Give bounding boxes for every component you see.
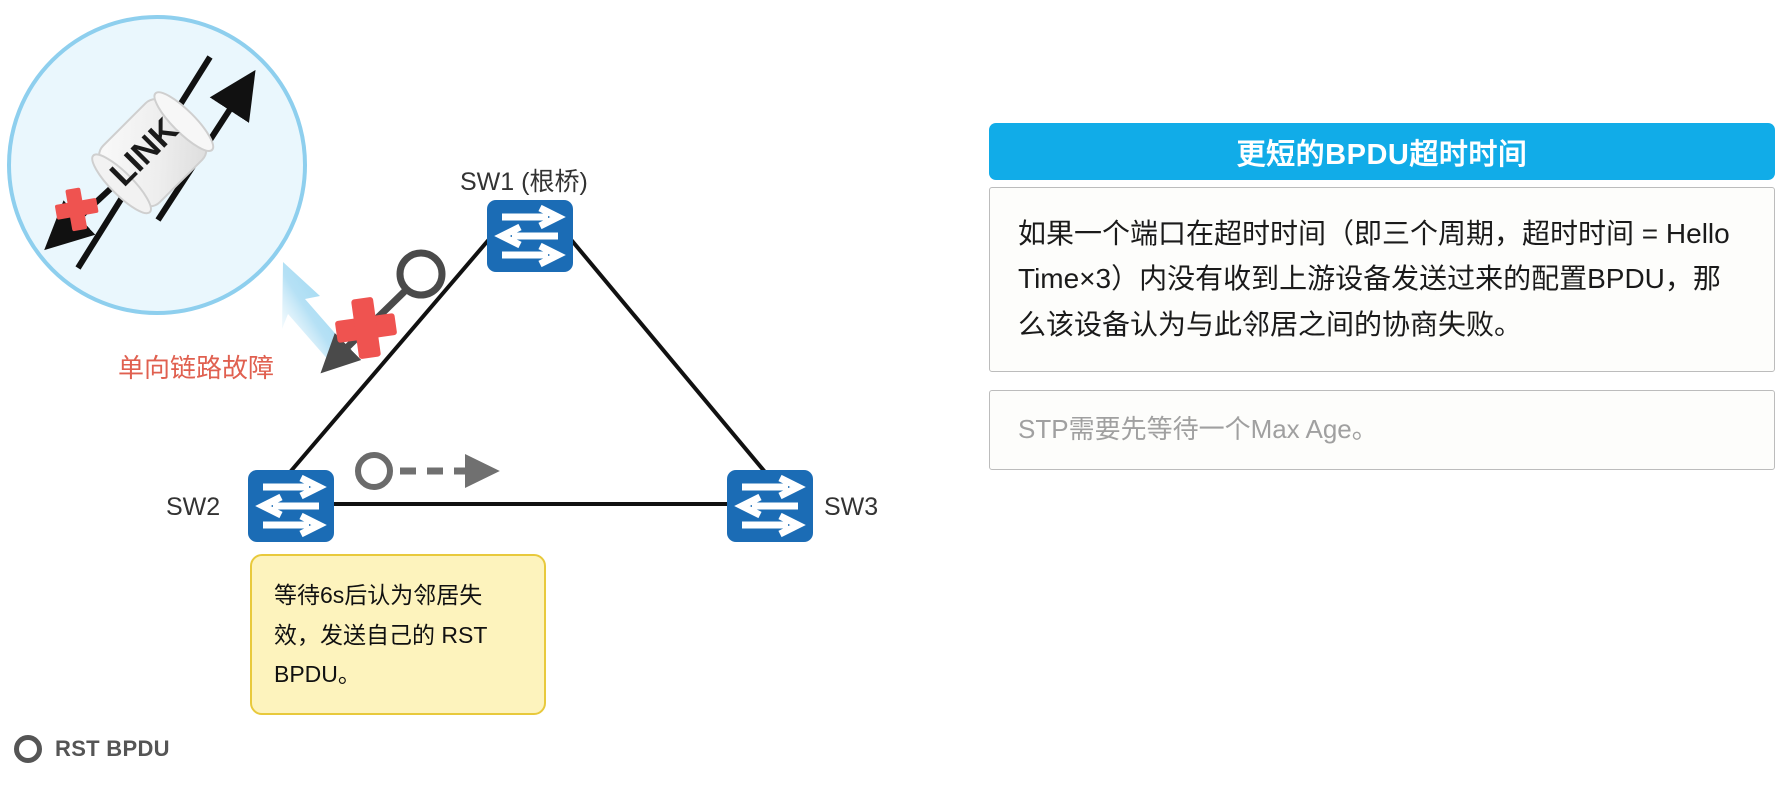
callout-text: 等待6s后认为邻居失效，发送自己的 RST BPDU。	[274, 582, 487, 687]
node-label-sw1: SW1 (根桥)	[460, 162, 588, 198]
panel-body-text: 如果一个端口在超时时间（即三个周期，超时时间 = Hello Time×3）内没…	[1018, 211, 1746, 347]
switch-icon-sw1[interactable]	[487, 200, 573, 272]
panel-header: 更短的BPDU超时时间	[989, 123, 1775, 180]
legend-label: RST BPDU	[55, 736, 170, 762]
panel-note-text: STP需要先等待一个Max Age。	[1018, 413, 1746, 447]
network-diagram-pane: LINK	[0, 0, 950, 792]
node-label-sw3: SW3	[824, 493, 878, 522]
panel-title: 更短的BPDU超时时间	[1237, 131, 1528, 173]
node-label-sw2: SW2	[166, 493, 220, 522]
switch-icon-sw3[interactable]	[727, 470, 813, 542]
link-sw1-sw3	[563, 230, 770, 478]
callout-bubble: 等待6s后认为邻居失效，发送自己的 RST BPDU。	[250, 554, 546, 715]
link-sw1-sw2	[285, 230, 497, 478]
magnifier-bubble: LINK	[9, 17, 305, 313]
rst-bpdu-ring-icon	[14, 735, 42, 763]
fault-label: 单向链路故障	[118, 348, 274, 385]
rst-bpdu-ring-icon-blocked	[400, 253, 442, 295]
outgoing-rst-bpdu-flow	[358, 455, 490, 487]
blocked-bpdu-flow	[328, 253, 442, 366]
info-panel: 更短的BPDU超时时间 如果一个端口在超时时间（即三个周期，超时时间 = Hel…	[989, 123, 1775, 470]
panel-body: 如果一个端口在超时时间（即三个周期，超时时间 = Hello Time×3）内没…	[989, 187, 1775, 372]
switch-icon-sw2[interactable]	[248, 470, 334, 542]
rst-bpdu-ring-icon-outgoing	[358, 455, 390, 487]
magnifier-pointer-arrow	[282, 262, 347, 362]
legend: RST BPDU	[14, 735, 170, 763]
panel-note: STP需要先等待一个Max Age。	[989, 390, 1775, 470]
